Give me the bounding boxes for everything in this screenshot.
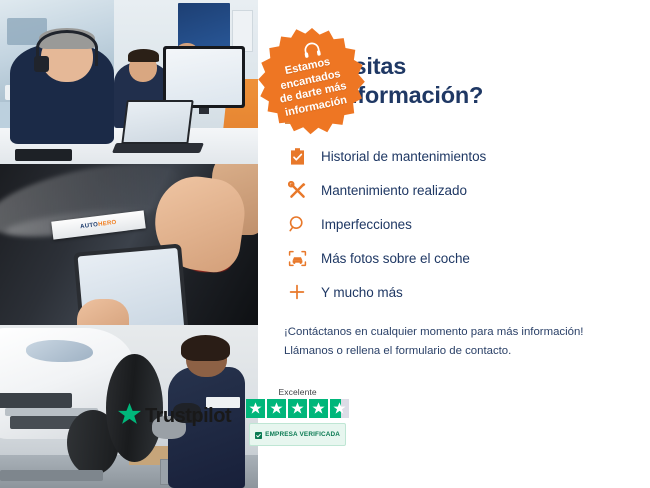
trustpilot-rating[interactable]: Trustpilot Excelente — [118, 387, 349, 446]
tablet-hand — [77, 299, 129, 325]
clipboard-check-icon — [284, 145, 310, 167]
star-5 — [330, 399, 349, 418]
verified-check-icon — [255, 426, 262, 444]
feature-item-maintenance-done: Mantenimiento realizado — [284, 174, 628, 206]
ruler-brand-auto: AUTO — [79, 221, 98, 229]
car-headlight — [26, 340, 93, 363]
car-inspection-photo: AUTOHERO — [0, 164, 258, 325]
trustpilot-logo[interactable]: Trustpilot — [118, 403, 231, 430]
feature-item-maintenance-history: Historial de mantenimientos — [284, 140, 628, 172]
feature-item-more-photos: Más fotos sobre el coche — [284, 242, 628, 274]
feature-label: Mantenimiento realizado — [321, 183, 467, 198]
contact-text: ¡Contáctanos en cualquier momento para m… — [284, 323, 626, 361]
trustpilot-score-block: Excelente — [246, 387, 349, 446]
star-3 — [288, 399, 307, 418]
tools-cross-icon — [284, 179, 310, 201]
rating-label: Excelente — [278, 387, 316, 397]
verified-badge: EMPRESA VERIFICADA — [249, 423, 346, 446]
laptop-screen — [121, 100, 194, 144]
promo-badge: Estamos encantados de darte más informac… — [253, 26, 371, 144]
call-center-photo — [0, 0, 258, 164]
ruler-brand-hero: HERO — [97, 219, 116, 227]
feature-label: Historial de mantenimientos — [321, 149, 486, 164]
trustpilot-wordmark: Trustpilot — [145, 405, 231, 428]
contact-line-one: ¡Contáctanos en cualquier momento para m… — [284, 326, 583, 338]
feature-label: Más fotos sobre el coche — [321, 251, 470, 266]
plus-icon — [284, 281, 310, 303]
trustpilot-star-icon — [118, 403, 141, 430]
laptop-base — [112, 143, 204, 153]
magnifier-icon — [284, 213, 310, 235]
contact-line-two: Llámanos o rellena el formulario de cont… — [284, 345, 511, 357]
star-4 — [309, 399, 328, 418]
desk-tablet — [15, 149, 72, 160]
promo-card: AUTOHERO ¿Neces — [0, 0, 650, 488]
car-scan-icon — [284, 247, 310, 269]
star-1 — [246, 399, 265, 418]
car-lift — [0, 470, 103, 481]
desktop-monitor — [163, 46, 246, 108]
headset-earcup — [34, 56, 49, 72]
verified-label: EMPRESA VERIFICADA — [265, 431, 340, 438]
feature-item-imperfections: Imperfecciones — [284, 208, 628, 240]
feature-label: Y mucho más — [321, 285, 403, 300]
car-grille-upper — [0, 393, 72, 408]
feature-list: Historial de mantenimientos Mantenimient… — [284, 140, 628, 308]
star-rating[interactable] — [246, 399, 349, 418]
mechanic-hair — [181, 335, 230, 361]
feature-item-much-more: Y mucho más — [284, 276, 628, 308]
star-2 — [267, 399, 286, 418]
feature-label: Imperfecciones — [321, 217, 412, 232]
agent-two-hair — [128, 49, 159, 62]
